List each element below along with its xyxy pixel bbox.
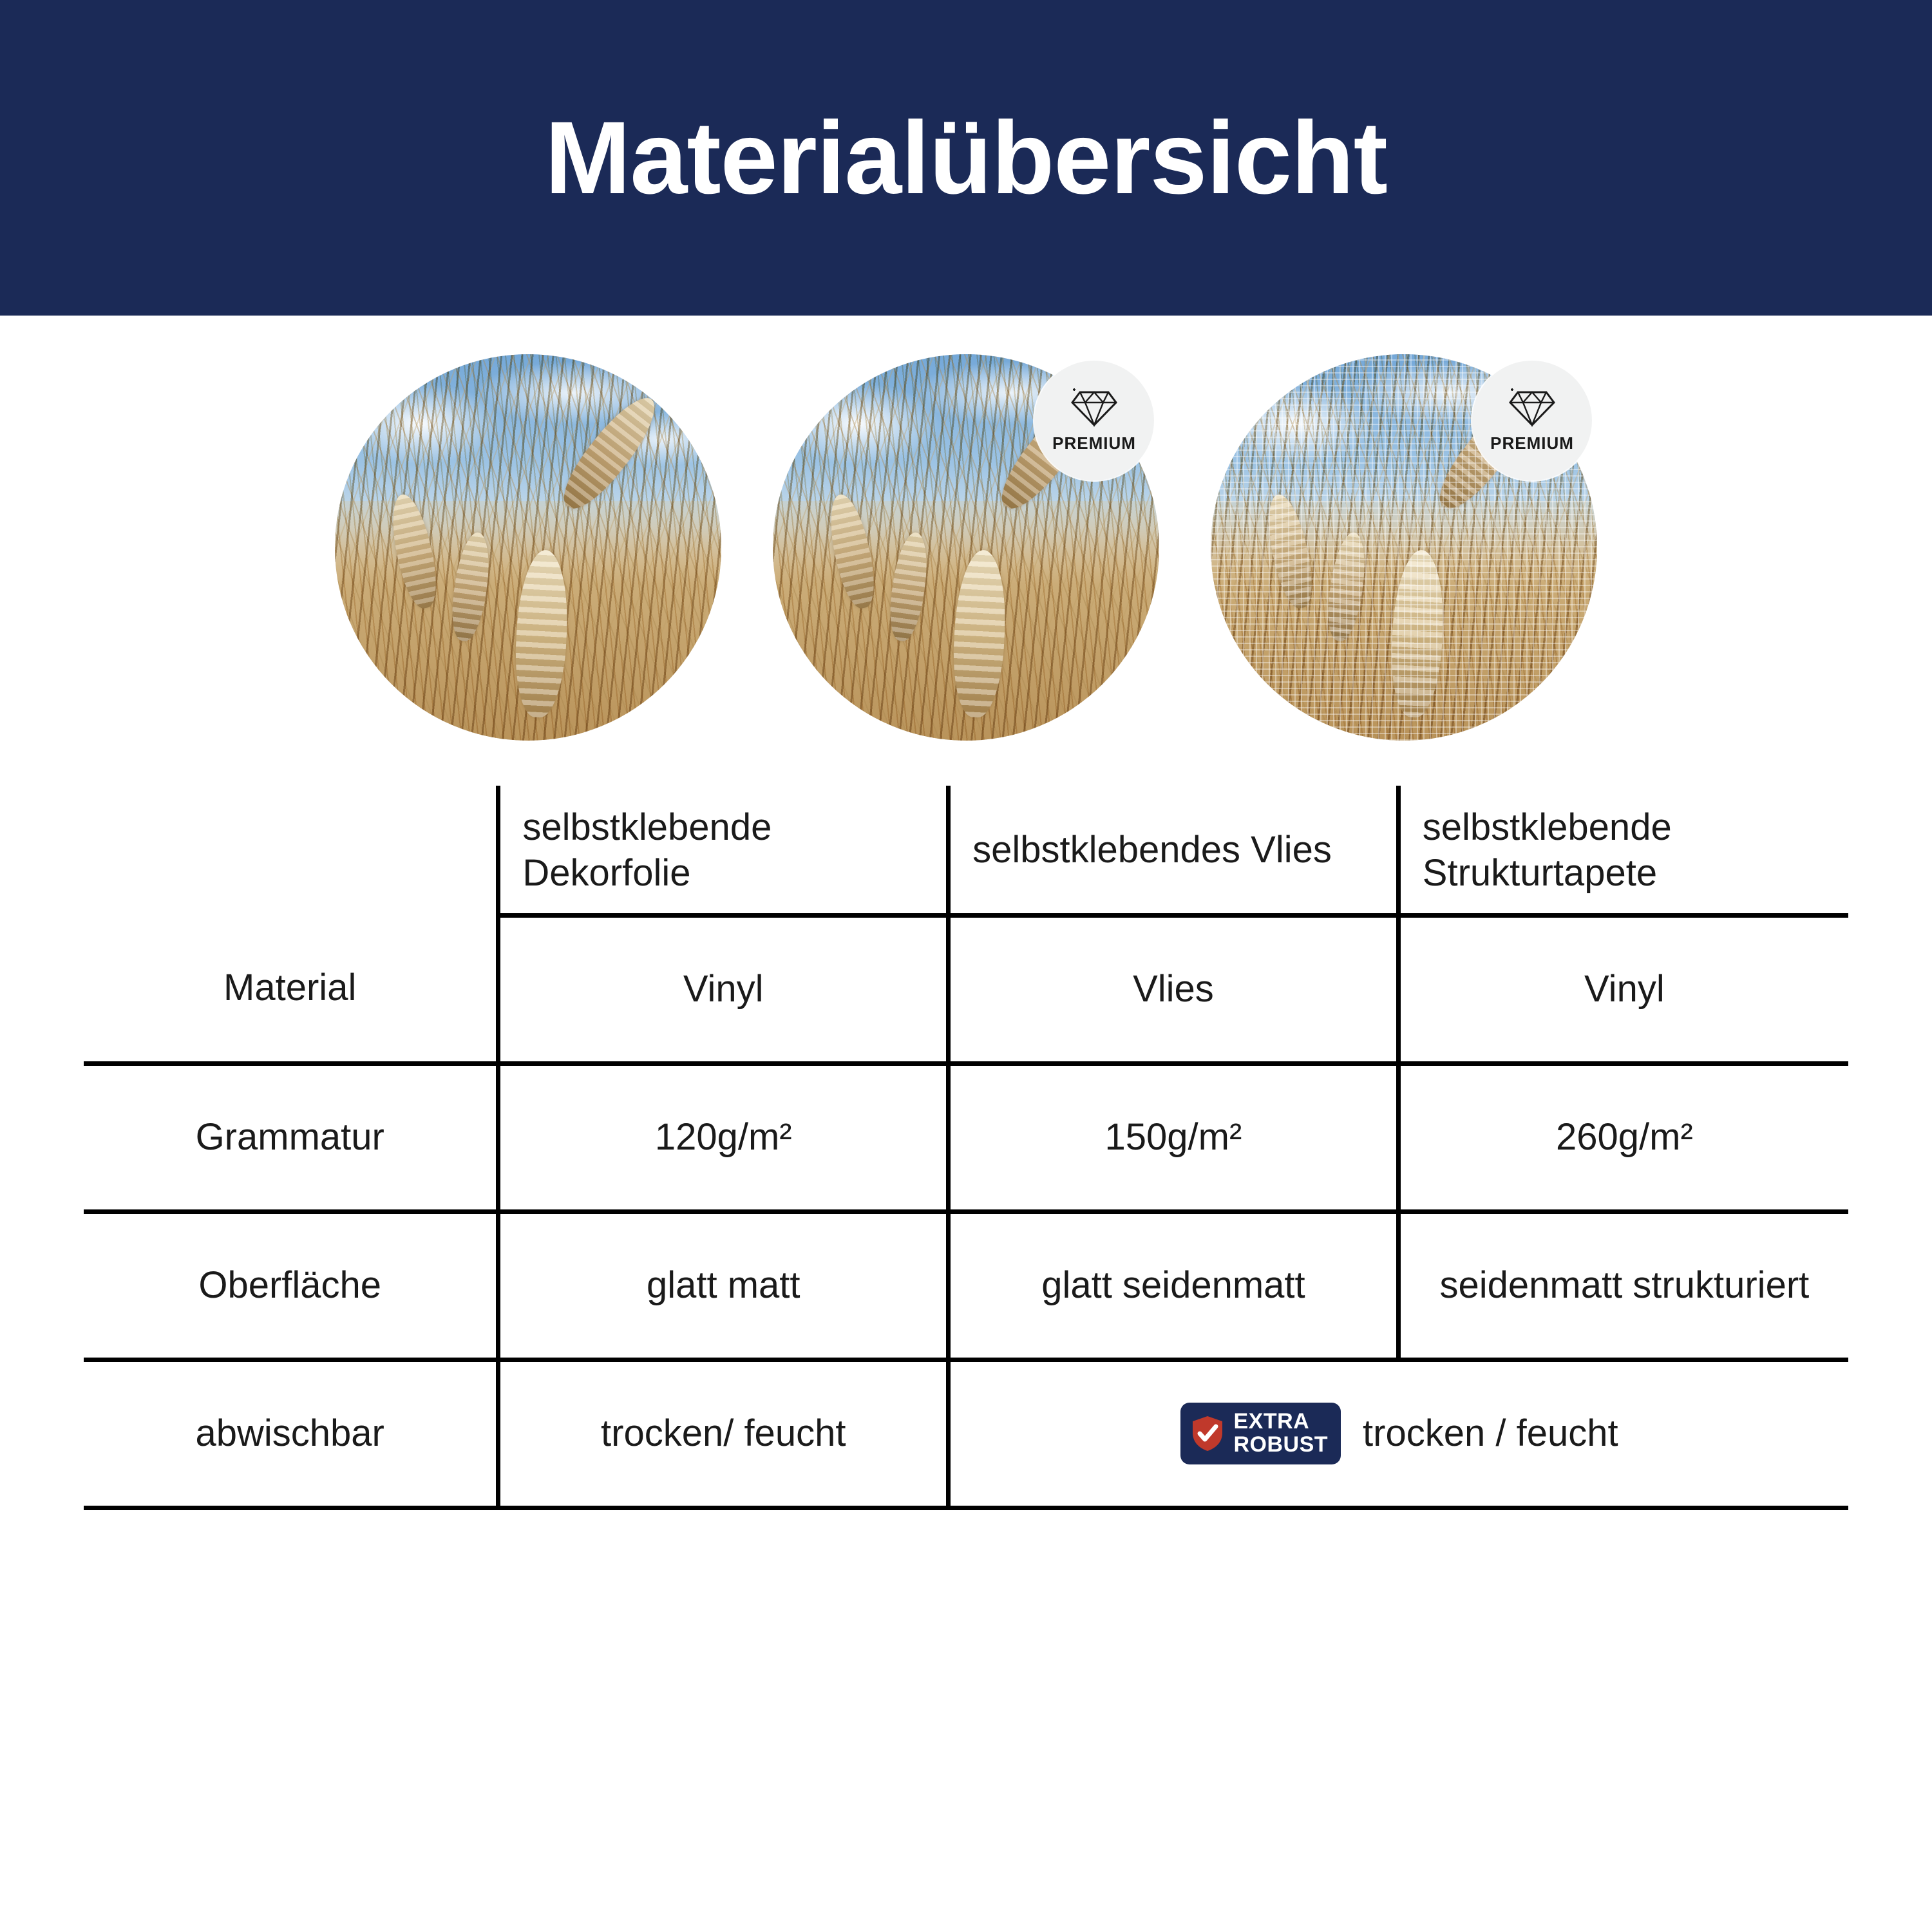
row-label-oberflaeche: Oberfläche xyxy=(84,1211,498,1359)
cell-oberflaeche-vlies: glatt seidenmatt xyxy=(949,1211,1399,1359)
cell-abwischbar-dekorfolie: trocken/ feucht xyxy=(498,1359,949,1508)
product-image-row: PREMIUM PREMIU xyxy=(0,354,1932,741)
page-title: Materialübersicht xyxy=(545,106,1387,209)
table-row: Grammatur 120g/m² 150g/m² 260g/m² xyxy=(84,1063,1848,1211)
premium-badge-label: PREMIUM xyxy=(1490,433,1574,453)
table-row: Oberfläche glatt matt glatt seidenmatt s… xyxy=(84,1211,1848,1359)
extra-robust-line1: EXTRA xyxy=(1233,1409,1309,1434)
column-header-strukturtapete: selbstklebende Strukturtapete xyxy=(1398,786,1848,915)
table-row: Material Vinyl Vlies Vinyl xyxy=(84,915,1848,1063)
column-header-dekorfolie: selbstklebende Dekorfolie xyxy=(498,786,949,915)
cell-material-strukturtapete: Vinyl xyxy=(1398,915,1848,1063)
cell-grammatur-vlies: 150g/m² xyxy=(949,1063,1399,1211)
table-corner-cell xyxy=(84,786,498,915)
product-image-2: PREMIUM xyxy=(773,354,1159,741)
extra-robust-label: EXTRA ROBUST xyxy=(1233,1410,1328,1456)
cell-grammatur-dekorfolie: 120g/m² xyxy=(498,1063,949,1211)
extra-robust-line2: ROBUST xyxy=(1233,1432,1328,1457)
cell-abwischbar-text: trocken / feucht xyxy=(1363,1411,1618,1457)
cell-oberflaeche-dekorfolie: glatt matt xyxy=(498,1211,949,1359)
page-header: Materialübersicht xyxy=(0,0,1932,316)
premium-badge: PREMIUM xyxy=(1034,361,1154,480)
cell-material-dekorfolie: Vinyl xyxy=(498,915,949,1063)
product-image-1 xyxy=(335,354,721,741)
wheat-field-image xyxy=(335,354,721,741)
diamond-icon xyxy=(1070,388,1118,428)
shield-check-icon xyxy=(1191,1415,1224,1452)
extra-robust-badge: EXTRA ROBUST xyxy=(1180,1403,1341,1464)
product-image-3: PREMIUM xyxy=(1211,354,1597,741)
table-row: abwischbar trocken/ feucht xyxy=(84,1359,1848,1508)
cell-material-vlies: Vlies xyxy=(949,915,1399,1063)
cell-oberflaeche-strukturtapete: seidenmatt strukturiert xyxy=(1398,1211,1848,1359)
material-comparison-table: selbstklebende Dekorfolie selbstklebende… xyxy=(84,786,1848,1510)
bottom-spacer xyxy=(0,1510,1932,1549)
cell-grammatur-strukturtapete: 260g/m² xyxy=(1398,1063,1848,1211)
diamond-icon xyxy=(1508,388,1556,428)
column-header-vlies: selbstklebendes Vlies xyxy=(949,786,1399,915)
row-label-grammatur: Grammatur xyxy=(84,1063,498,1211)
row-label-abwischbar: abwischbar xyxy=(84,1359,498,1508)
premium-badge: PREMIUM xyxy=(1472,361,1592,480)
cell-abwischbar-vlies-strukturtapete: EXTRA ROBUST trocken / feucht xyxy=(949,1359,1848,1508)
premium-badge-label: PREMIUM xyxy=(1052,433,1136,453)
row-label-material: Material xyxy=(84,915,498,1063)
table-header-row: selbstklebende Dekorfolie selbstklebende… xyxy=(84,786,1848,915)
